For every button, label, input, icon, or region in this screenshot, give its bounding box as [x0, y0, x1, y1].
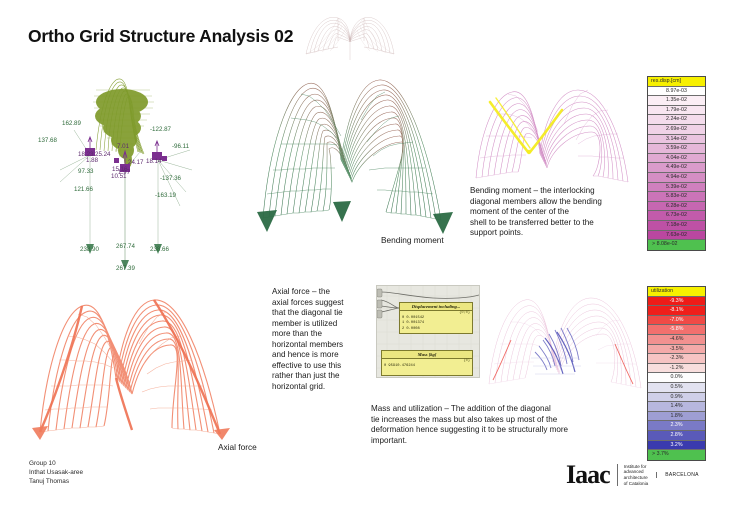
legend-row: -2.3% [648, 354, 705, 364]
thumbnail-wireframe-model [300, 8, 400, 60]
displacement-panel[interactable]: Displacement including... {0;0} 0 0.0015… [399, 302, 473, 334]
bending-moment-model [255, 70, 455, 245]
legend-displacement: res.disp.[cm] 8.97e-03 1.35e-02 1.79e-02… [647, 76, 706, 251]
reaction-forces-svg [40, 72, 240, 272]
legend-displacement-header: res.disp.[cm] [648, 77, 705, 87]
legend-row: 5.39e-02 [648, 183, 705, 193]
reaction-label: -122.87 [150, 126, 171, 133]
credits-member-2: Tanuj Thomas [29, 477, 83, 486]
reaction-label: 18.14 [146, 158, 161, 165]
legend-row: 6.28e-02 [648, 202, 705, 212]
legend-row: 5.83e-02 [648, 192, 705, 202]
reaction-label: 267.39 [116, 265, 135, 272]
legend-row: 1.79e-02 [648, 106, 705, 116]
mass-panel[interactable]: Mass [kg] {0} 0 95910.476244 [381, 350, 473, 376]
legend-row: -1.2% [648, 364, 705, 374]
legend-row: -4.6% [648, 335, 705, 345]
axial-force-caption: Axial force [218, 443, 257, 451]
legend-row: 0.0% [648, 373, 705, 383]
reaction-label: 24.17 [128, 159, 143, 166]
legend-row: > 8.08e-02 [648, 240, 705, 250]
bending-moment-svg [255, 70, 455, 245]
axial-force-annotation: Axial force – the axial forces suggest t… [272, 287, 364, 392]
reaction-label: 97.33 [78, 168, 93, 175]
legend-row: -8.1% [648, 306, 705, 316]
reaction-label: 7.01 [117, 143, 129, 150]
legend-row: 2.8% [648, 431, 705, 441]
iaac-logo: Iaac Institute for advanced architecture… [566, 460, 699, 490]
legend-row: 2.24e-02 [648, 115, 705, 125]
utilization-model [483, 288, 643, 398]
legend-utilization-header: utilization [648, 287, 705, 297]
legend-row: 3.14e-02 [648, 135, 705, 145]
legend-row: -7.0% [648, 316, 705, 326]
legend-row: -5.8% [648, 325, 705, 335]
legend-row: 1.4% [648, 402, 705, 412]
axial-force-model [32, 290, 247, 440]
mass-panel-title: Mass [kg] [382, 351, 472, 359]
reaction-forces-model [40, 72, 240, 272]
credits-member-1: Inthat Usasak-aree [29, 468, 83, 477]
legend-row: 7.18e-02 [648, 221, 705, 231]
reaction-label: 1.88 [86, 157, 98, 164]
legend-row: -3.5% [648, 345, 705, 355]
reaction-label: -163.19 [155, 192, 176, 199]
legend-row: 3.59e-02 [648, 144, 705, 154]
iaac-city: BARCELONA [656, 472, 699, 478]
legend-row: 2.69e-02 [648, 125, 705, 135]
reaction-label: 238.90 [80, 246, 99, 253]
iaac-wordmark: Iaac [566, 462, 610, 488]
displacement-panel-line: 2 0.0008 [400, 327, 472, 332]
legend-row: 6.73e-02 [648, 211, 705, 221]
legend-row: 0.5% [648, 383, 705, 393]
reaction-label: 137.68 [38, 137, 57, 144]
mass-panel-line: 0 95910.476244 [382, 364, 472, 369]
displacement-panel-title: Displacement including... [400, 303, 472, 311]
reaction-label: -96.11 [172, 143, 189, 150]
utilization-svg [483, 288, 643, 398]
reaction-label: 10.51 [111, 173, 126, 180]
axial-force-svg [32, 290, 247, 440]
legend-row: > 3.7% [648, 450, 705, 460]
reaction-label: 162.89 [62, 120, 81, 127]
displacement-svg [470, 82, 635, 192]
legend-row: 0.9% [648, 393, 705, 403]
legend-row: 4.49e-02 [648, 163, 705, 173]
legend-row: -9.3% [648, 297, 705, 307]
displacement-model [470, 82, 635, 192]
bending-moment-caption: Bending moment [381, 236, 444, 244]
legend-row: 4.04e-02 [648, 154, 705, 164]
mass-utilization-annotation: Mass and utilization – The addition of t… [371, 404, 621, 446]
reaction-label: -137.36 [160, 175, 181, 182]
reaction-label: 121.66 [74, 186, 93, 193]
legend-row: 7.63e-02 [648, 231, 705, 241]
thumbnail-wireframe-svg [300, 8, 400, 60]
reaction-label: 267.74 [116, 243, 135, 250]
legend-row: 1.35e-02 [648, 96, 705, 106]
legend-row: 3.2% [648, 441, 705, 451]
iaac-subtitle: Institute for advanced architecture of C… [617, 464, 649, 486]
page-title: Ortho Grid Structure Analysis 02 [28, 26, 293, 47]
bending-moment-annotation: Bending moment – the interlocking diagon… [470, 186, 650, 239]
credits-group: Group 10 [29, 459, 83, 468]
legend-row: 2.3% [648, 421, 705, 431]
grasshopper-canvas[interactable]: Displacement including... {0;0} 0 0.0015… [376, 285, 480, 378]
legend-row: 8.97e-03 [648, 87, 705, 97]
reaction-label: 238.66 [150, 246, 169, 253]
legend-row: 1.8% [648, 412, 705, 422]
poster-canvas: Ortho Grid Structure Analysis 02 [0, 0, 730, 516]
credits-block: Group 10 Inthat Usasak-aree Tanuj Thomas [29, 459, 83, 487]
legend-row: 4.94e-02 [648, 173, 705, 183]
legend-utilization: utilization -9.3% -8.1% -7.0% -5.8% -4.6… [647, 286, 706, 461]
